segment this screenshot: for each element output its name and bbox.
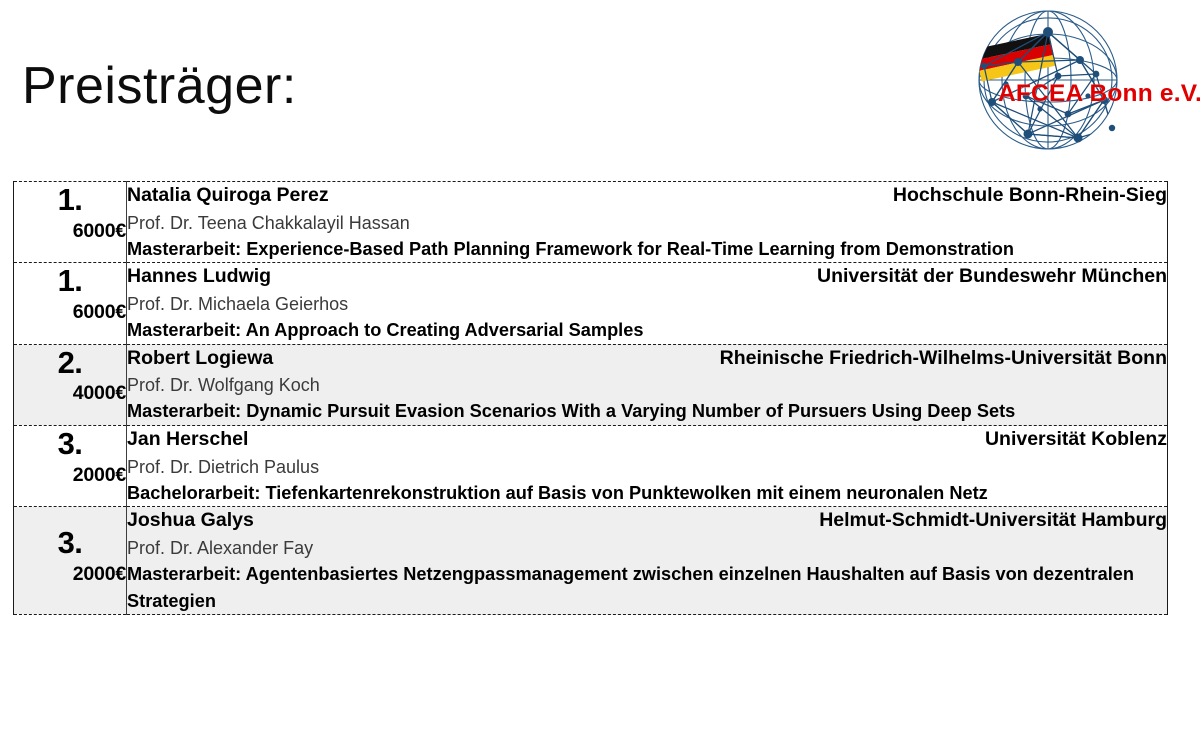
rank-number: 2.: [14, 345, 126, 382]
logo-text: AFCEA Bonn e.V.: [998, 80, 1200, 108]
table-row: 3. 2000€ Joshua Galys Helmut-Schmidt-Uni…: [14, 507, 1168, 615]
winner-name: Joshua Galys: [127, 507, 254, 535]
thesis-title: Masterarbeit: Agentenbasiertes Netzengpa…: [127, 561, 1167, 614]
award-details-cell: Joshua Galys Helmut-Schmidt-Universität …: [127, 507, 1168, 615]
winner-name: Robert Logiewa: [127, 345, 273, 373]
supervisor-name: Prof. Dr. Alexander Fay: [127, 535, 1167, 561]
university-name: Hochschule Bonn-Rhein-Sieg: [893, 182, 1167, 210]
winner-header: Natalia Quiroga Perez Hochschule Bonn-Rh…: [127, 182, 1167, 210]
rank-number: 3.: [14, 426, 126, 463]
university-name: Helmut-Schmidt-Universität Hamburg: [819, 507, 1167, 535]
prize-amount: 2000€: [14, 463, 126, 487]
prize-amount: 6000€: [14, 219, 126, 243]
supervisor-name: Prof. Dr. Teena Chakkalayil Hassan: [127, 210, 1167, 236]
winner-header: Jan Herschel Universität Koblenz: [127, 426, 1167, 454]
rank-cell: 3. 2000€: [14, 507, 127, 615]
award-details-cell: Jan Herschel Universität Koblenz Prof. D…: [127, 426, 1168, 507]
prize-amount: 6000€: [14, 300, 126, 324]
afcea-bonn-logo: AFCEA Bonn e.V.: [928, 4, 1190, 156]
awards-table-body: 1. 6000€ Natalia Quiroga Perez Hochschul…: [14, 182, 1168, 615]
prize-amount: 4000€: [14, 381, 126, 405]
winner-name: Natalia Quiroga Perez: [127, 182, 329, 210]
table-row: 3. 2000€ Jan Herschel Universität Koblen…: [14, 426, 1168, 507]
rank-cell: 2. 4000€: [14, 344, 127, 425]
award-details-cell: Natalia Quiroga Perez Hochschule Bonn-Rh…: [127, 182, 1168, 263]
university-name: Universität Koblenz: [985, 426, 1167, 454]
thesis-title: Masterarbeit: An Approach to Creating Ad…: [127, 317, 1167, 344]
table-row: 1. 6000€ Hannes Ludwig Universität der B…: [14, 263, 1168, 344]
page-title: Preisträger:: [22, 58, 297, 115]
rank-number: 1.: [14, 263, 126, 300]
awards-table: 1. 6000€ Natalia Quiroga Perez Hochschul…: [13, 181, 1168, 615]
thesis-title: Masterarbeit: Dynamic Pursuit Evasion Sc…: [127, 398, 1167, 425]
supervisor-name: Prof. Dr. Wolfgang Koch: [127, 372, 1167, 398]
university-name: Universität der Bundeswehr München: [817, 263, 1167, 291]
supervisor-name: Prof. Dr. Dietrich Paulus: [127, 454, 1167, 480]
rank-number: 3.: [14, 525, 126, 562]
winner-name: Jan Herschel: [127, 426, 248, 454]
rank-cell: 3. 2000€: [14, 426, 127, 507]
winner-header: Joshua Galys Helmut-Schmidt-Universität …: [127, 507, 1167, 535]
winner-name: Hannes Ludwig: [127, 263, 271, 291]
thesis-title: Masterarbeit: Experience-Based Path Plan…: [127, 236, 1167, 263]
thesis-title: Bachelorarbeit: Tiefenkartenrekonstrukti…: [127, 480, 1167, 507]
table-row: 2. 4000€ Robert Logiewa Rheinische Fried…: [14, 344, 1168, 425]
prize-amount: 2000€: [14, 562, 126, 586]
table-row: 1. 6000€ Natalia Quiroga Perez Hochschul…: [14, 182, 1168, 263]
rank-number: 1.: [14, 182, 126, 219]
rank-cell: 1. 6000€: [14, 182, 127, 263]
winner-header: Hannes Ludwig Universität der Bundeswehr…: [127, 263, 1167, 291]
award-details-cell: Robert Logiewa Rheinische Friedrich-Wilh…: [127, 344, 1168, 425]
university-name: Rheinische Friedrich-Wilhelms-Universitä…: [720, 345, 1167, 373]
supervisor-name: Prof. Dr. Michaela Geierhos: [127, 291, 1167, 317]
german-flag-icon: [975, 33, 1056, 81]
rank-cell: 1. 6000€: [14, 263, 127, 344]
winner-header: Robert Logiewa Rheinische Friedrich-Wilh…: [127, 345, 1167, 373]
award-details-cell: Hannes Ludwig Universität der Bundeswehr…: [127, 263, 1168, 344]
